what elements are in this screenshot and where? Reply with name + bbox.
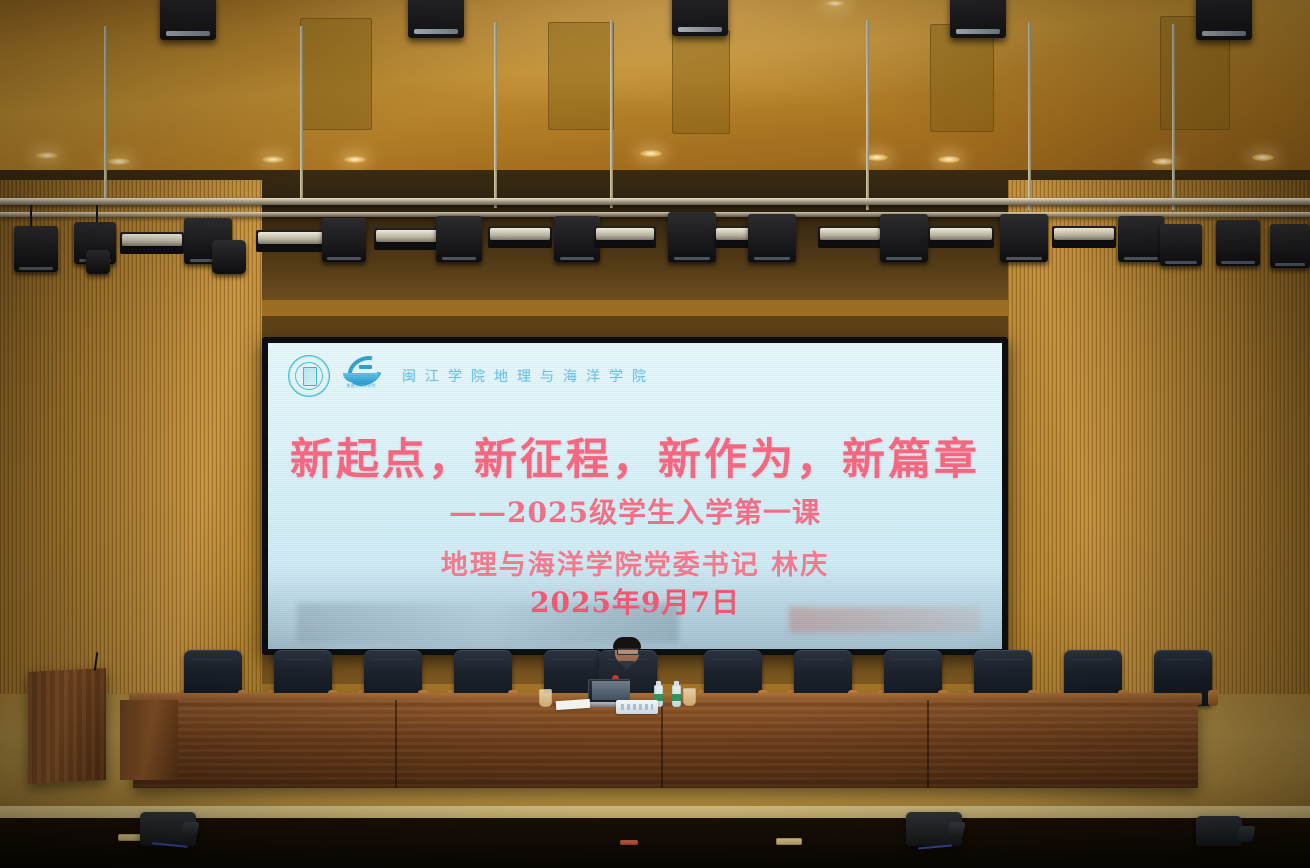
fixture-yoke [30, 205, 32, 227]
college-logo-icon: 地理与海洋学院 [342, 356, 380, 396]
ceiling-acoustic-panel [930, 24, 994, 132]
stage-spotlight [1118, 216, 1164, 262]
water-bottle [672, 685, 681, 707]
auditorium-scene: 地理与海洋学院 闽江学院地理与海洋学院 新起点，新征程，新作为，新篇章 ——20… [0, 0, 1310, 868]
tea-cup [683, 688, 696, 706]
stage-spotlight [212, 240, 246, 274]
ceiling-speaker [1196, 0, 1252, 40]
ceiling-downlight [36, 152, 58, 159]
presentation-screen[interactable]: 地理与海洋学院 闽江学院地理与海洋学院 新起点，新征程，新作为，新篇章 ——20… [268, 343, 1002, 649]
organization-name: 闽江学院地理与海洋学院 [402, 366, 655, 386]
slide-date: 2025年9月7日 [268, 581, 1002, 621]
led-wash-panel [930, 228, 992, 240]
lighting-truss-bar [0, 198, 1310, 205]
ceiling-acoustic-panel [672, 30, 730, 134]
stage-spotlight [1270, 224, 1310, 268]
ceiling-downlight [1252, 154, 1274, 161]
wooden-lectern [28, 668, 106, 784]
table-wood-grain [133, 700, 1198, 788]
floor-monitor-speaker [1196, 816, 1242, 846]
slide-title: 新起点，新征程，新作为，新篇章 [268, 425, 1002, 487]
table-seam [927, 700, 929, 788]
ceiling-speaker [408, 0, 464, 38]
laptop-screen [592, 681, 630, 700]
truss-support-rod [104, 26, 107, 202]
lighting-truss-bar-secondary [0, 212, 1310, 217]
ceiling-acoustic-panel [300, 18, 372, 130]
ceiling-downlight [1152, 158, 1174, 165]
stage-spotlight [322, 218, 366, 262]
ceiling-downlight [866, 154, 888, 161]
truss-support-rod [300, 26, 303, 204]
ceiling-downlight [262, 156, 284, 163]
truss-support-rod [866, 20, 869, 210]
led-wash-panel [820, 228, 880, 240]
ceiling-speaker [672, 0, 728, 36]
led-wash-panel [122, 234, 182, 246]
university-seal-icon [288, 355, 330, 397]
ceiling-downlight [824, 0, 846, 7]
stage-spotlight [1216, 220, 1260, 266]
ceiling-speaker [950, 0, 1006, 38]
truss-support-rod [494, 22, 497, 208]
led-wash-panel [376, 230, 438, 242]
stage-spotlight [748, 214, 796, 262]
stage-spotlight [880, 214, 928, 262]
g-letter-bar [359, 365, 372, 369]
floor-monitor-speaker [906, 812, 962, 846]
table-seam [661, 700, 663, 788]
tea-cup [539, 689, 552, 707]
floor-monitor-speaker [140, 812, 196, 846]
chair-armrest [1208, 690, 1218, 706]
wave-shape [343, 373, 379, 382]
college-logo-caption: 地理与海洋学院 [342, 383, 380, 388]
stage-spotlight [1160, 224, 1202, 266]
slide-subtitle: ——2025级学生入学第一课 [268, 491, 1002, 531]
led-wash-panel [1054, 228, 1114, 240]
led-wash-panel [596, 228, 654, 240]
fixture-yoke [96, 205, 98, 223]
side-cabinet [120, 700, 178, 780]
stage-spotlight-small [86, 250, 110, 274]
slide-presenter: 地理与海洋学院党委书记 林庆 [268, 543, 1002, 582]
stage-spotlight [668, 212, 716, 262]
truss-support-rod [1172, 24, 1175, 210]
stage-spotlight [436, 216, 482, 262]
led-wash-panel [490, 228, 550, 240]
truss-support-rod [610, 20, 613, 208]
bottle-cap [656, 681, 661, 686]
floor-socket-plate [776, 838, 802, 845]
bottle-cap [674, 681, 679, 686]
ceiling-downlight [938, 156, 960, 163]
name-card-plate [616, 700, 658, 714]
ceiling-downlight [640, 150, 662, 157]
table-seam [395, 700, 397, 788]
stage-spotlight [14, 226, 58, 272]
led-wash-panel [258, 232, 324, 244]
conference-table [133, 700, 1198, 788]
ceiling-acoustic-panel [548, 22, 614, 130]
stage-spotlight [1000, 214, 1048, 262]
lectern-wood-grain [28, 668, 106, 784]
glasses-icon [617, 648, 639, 655]
ceiling-downlight [108, 158, 130, 165]
ceiling-downlight [344, 156, 366, 163]
truss-support-rod [1028, 22, 1031, 210]
floor-marker [620, 840, 638, 845]
ceiling-speaker [160, 0, 216, 40]
slide-header: 地理与海洋学院 闽江学院地理与海洋学院 [288, 353, 982, 399]
